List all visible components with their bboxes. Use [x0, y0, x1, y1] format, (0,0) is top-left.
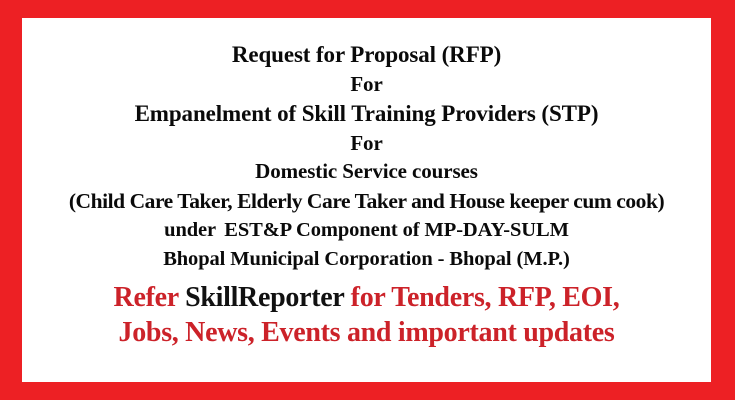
scheme-under-word: under	[164, 219, 216, 241]
promo-brand-name: SkillReporter	[185, 282, 344, 313]
scheme-component-text: EST&P Component of MP-DAY-SULM	[224, 219, 569, 241]
scheme-component-line: underEST&P Component of MP-DAY-SULM	[22, 216, 711, 244]
promo-line-1: Refer SkillReporter for Tenders, RFP, EO…	[22, 280, 711, 315]
course-list: (Child Care Taker, Elderly Care Taker an…	[22, 186, 711, 216]
promo-line-2: Jobs, News, Events and important updates	[22, 315, 711, 350]
domestic-service-courses: Domestic Service courses	[22, 157, 711, 186]
promo-tail-text: for Tenders, RFP, EOI,	[351, 282, 620, 313]
rfp-title: Request for Proposal (RFP)	[22, 40, 711, 70]
for-label-1: For	[22, 70, 711, 98]
poster-red-frame: Request for Proposal (RFP) For Empanelme…	[0, 0, 735, 400]
issuing-authority: Bhopal Municipal Corporation - Bhopal (M…	[22, 244, 711, 274]
for-label-2: For	[22, 129, 711, 157]
poster-white-sheet: Request for Proposal (RFP) For Empanelme…	[22, 18, 711, 382]
empanelment-subject: Empanelment of Skill Training Providers …	[22, 98, 711, 129]
promo-refer-word: Refer	[114, 282, 179, 313]
